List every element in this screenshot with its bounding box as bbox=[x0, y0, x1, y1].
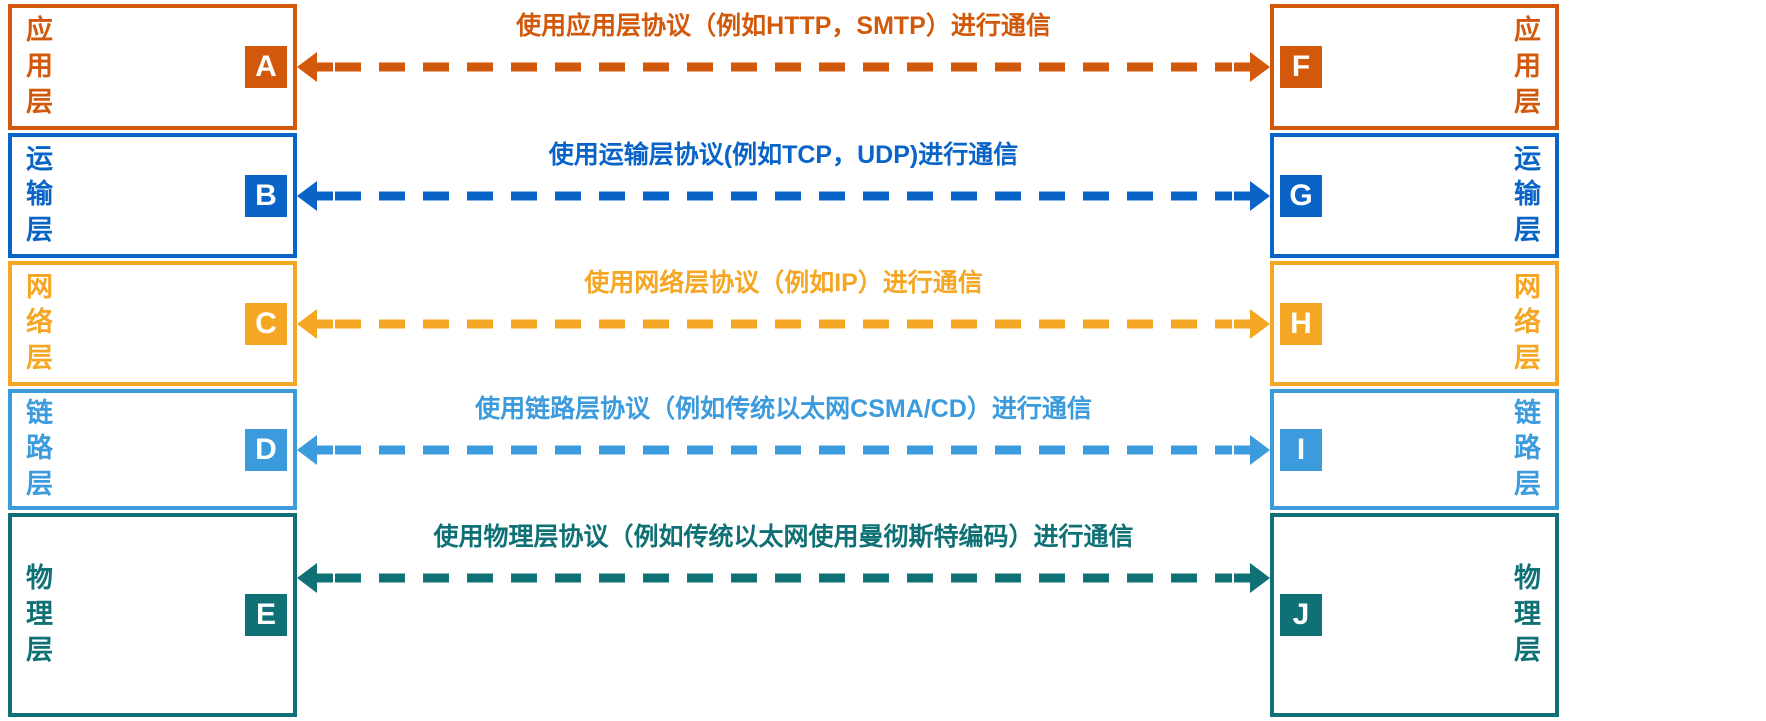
right-layer-label-physical: 物理层 bbox=[1514, 561, 1541, 669]
right-layer-label-network: 网络层 bbox=[1514, 270, 1541, 378]
arrow-stub-left-physical bbox=[315, 574, 333, 583]
arrow-stub-left-transport bbox=[315, 191, 333, 200]
arrow-stub-left-link bbox=[315, 445, 333, 454]
right-layer-box-application[interactable]: F应用层 bbox=[1270, 4, 1559, 130]
dashed-line-application bbox=[335, 63, 1232, 72]
protocol-arrow-network bbox=[297, 309, 1270, 339]
left-layer-box-network[interactable]: 网络层C bbox=[8, 261, 297, 386]
arrowhead-left-icon-link bbox=[297, 435, 317, 465]
arrowhead-right-icon-transport bbox=[1250, 181, 1270, 211]
right-endpoint-badge-g[interactable]: G bbox=[1280, 175, 1322, 217]
dashed-line-network bbox=[335, 319, 1232, 328]
arrowhead-right-icon-link bbox=[1250, 435, 1270, 465]
arrowhead-right-icon-network bbox=[1250, 309, 1270, 339]
protocol-arrow-link bbox=[297, 435, 1270, 465]
right-layer-label-transport: 运输层 bbox=[1514, 142, 1541, 250]
protocol-connector-physical: 使用物理层协议（例如传统以太网使用曼彻斯特编码）进行通信 bbox=[297, 513, 1270, 717]
right-layer-box-physical[interactable]: J物理层 bbox=[1270, 513, 1559, 717]
layer-row-network: 网络层CH网络层使用网络层协议（例如IP）进行通信 bbox=[0, 261, 1766, 386]
protocol-connector-application: 使用应用层协议（例如HTTP，SMTP）进行通信 bbox=[297, 4, 1270, 130]
layer-row-physical: 物理层EJ物理层使用物理层协议（例如传统以太网使用曼彻斯特编码）进行通信 bbox=[0, 513, 1766, 717]
arrowhead-left-icon-physical bbox=[297, 563, 317, 593]
dashed-line-physical bbox=[335, 574, 1232, 583]
arrow-stub-left-network bbox=[315, 319, 333, 328]
left-endpoint-badge-e[interactable]: E bbox=[245, 594, 287, 636]
protocol-arrow-application bbox=[297, 52, 1270, 82]
layer-row-transport: 运输层BG运输层使用运输层协议(例如TCP，UDP)进行通信 bbox=[0, 133, 1766, 258]
protocol-connector-network: 使用网络层协议（例如IP）进行通信 bbox=[297, 261, 1270, 386]
dashed-line-transport bbox=[335, 191, 1232, 200]
right-endpoint-badge-f[interactable]: F bbox=[1280, 46, 1322, 88]
left-layer-label-link: 链路层 bbox=[26, 396, 53, 504]
layer-row-application: 应用层AF应用层使用应用层协议（例如HTTP，SMTP）进行通信 bbox=[0, 4, 1766, 130]
right-layer-box-transport[interactable]: G运输层 bbox=[1270, 133, 1559, 258]
right-layer-box-network[interactable]: H网络层 bbox=[1270, 261, 1559, 386]
dashed-line-link bbox=[335, 445, 1232, 454]
arrow-stub-left-application bbox=[315, 63, 333, 72]
left-endpoint-badge-a[interactable]: A bbox=[245, 46, 287, 88]
right-layer-label-link: 链路层 bbox=[1514, 396, 1541, 504]
arrowhead-left-icon-network bbox=[297, 309, 317, 339]
right-layer-box-link[interactable]: I链路层 bbox=[1270, 389, 1559, 510]
left-endpoint-badge-b[interactable]: B bbox=[245, 175, 287, 217]
arrowhead-left-icon-application bbox=[297, 52, 317, 82]
arrowhead-right-icon-physical bbox=[1250, 563, 1270, 593]
protocol-message-link: 使用链路层协议（例如传统以太网CSMA/CD）进行通信 bbox=[297, 396, 1270, 424]
protocol-connector-link: 使用链路层协议（例如传统以太网CSMA/CD）进行通信 bbox=[297, 389, 1270, 510]
left-layer-box-transport[interactable]: 运输层B bbox=[8, 133, 297, 258]
left-layer-box-physical[interactable]: 物理层E bbox=[8, 513, 297, 717]
right-endpoint-badge-h[interactable]: H bbox=[1280, 303, 1322, 345]
right-endpoint-badge-j[interactable]: J bbox=[1280, 594, 1322, 636]
protocol-message-network: 使用网络层协议（例如IP）进行通信 bbox=[297, 270, 1270, 298]
protocol-message-application: 使用应用层协议（例如HTTP，SMTP）进行通信 bbox=[297, 13, 1270, 41]
protocol-arrow-physical bbox=[297, 563, 1270, 593]
right-endpoint-badge-i[interactable]: I bbox=[1280, 429, 1322, 471]
left-layer-label-network: 网络层 bbox=[26, 270, 53, 378]
left-endpoint-badge-d[interactable]: D bbox=[245, 429, 287, 471]
left-layer-box-application[interactable]: 应用层A bbox=[8, 4, 297, 130]
protocol-arrow-transport bbox=[297, 181, 1270, 211]
protocol-stack-diagram: 应用层AF应用层使用应用层协议（例如HTTP，SMTP）进行通信运输层BG运输层… bbox=[0, 0, 1766, 721]
arrowhead-left-icon-transport bbox=[297, 181, 317, 211]
protocol-message-physical: 使用物理层协议（例如传统以太网使用曼彻斯特编码）进行通信 bbox=[297, 524, 1270, 552]
left-layer-label-application: 应用层 bbox=[26, 13, 53, 121]
arrowhead-right-icon-application bbox=[1250, 52, 1270, 82]
protocol-message-transport: 使用运输层协议(例如TCP，UDP)进行通信 bbox=[297, 142, 1270, 170]
layer-row-link: 链路层DI链路层使用链路层协议（例如传统以太网CSMA/CD）进行通信 bbox=[0, 389, 1766, 510]
right-layer-label-application: 应用层 bbox=[1514, 13, 1541, 121]
left-layer-label-physical: 物理层 bbox=[26, 561, 53, 669]
left-endpoint-badge-c[interactable]: C bbox=[245, 303, 287, 345]
left-layer-box-link[interactable]: 链路层D bbox=[8, 389, 297, 510]
left-layer-label-transport: 运输层 bbox=[26, 142, 53, 250]
protocol-connector-transport: 使用运输层协议(例如TCP，UDP)进行通信 bbox=[297, 133, 1270, 258]
